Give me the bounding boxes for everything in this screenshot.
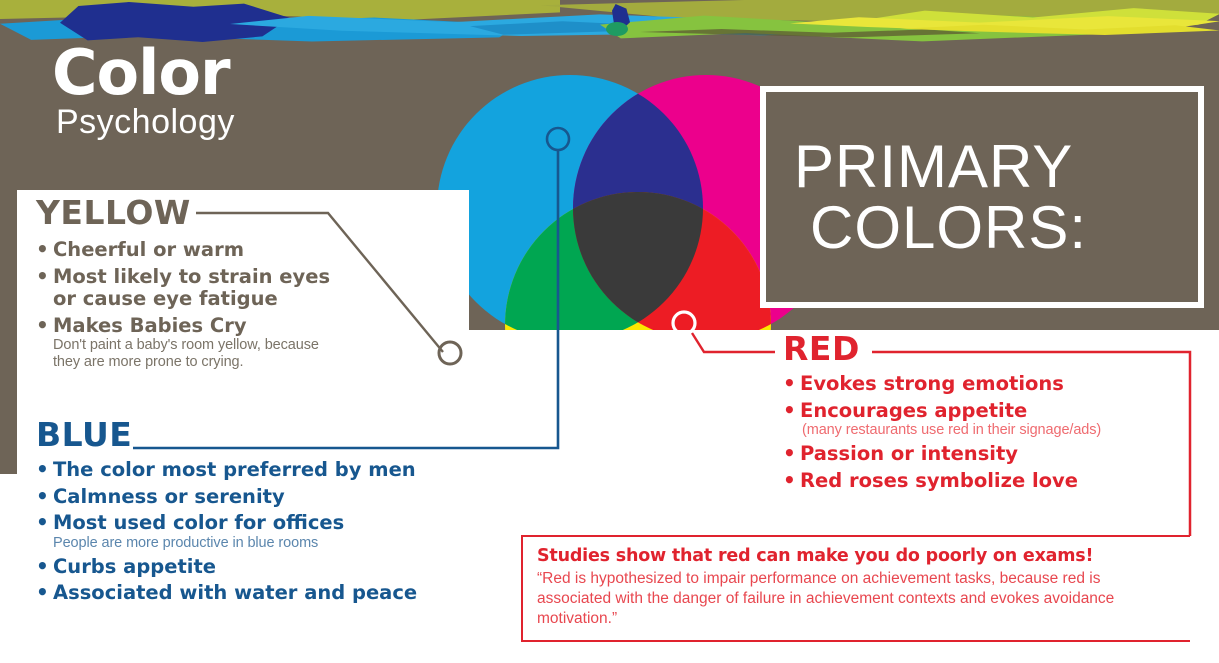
list-item: Curbs appetite [36,556,466,579]
bullet-subtext: (many restaurants use red in their signa… [800,422,1203,439]
bullet-text: Encourages appetite [800,399,1027,422]
section-yellow: YELLOW Cheerful or warm Most likely to s… [36,196,336,375]
list-item: Red roses symbolize love [783,470,1203,493]
bullet-subtext: People are more productive in blue rooms [53,535,466,552]
bullet-text: Passion or intensity [800,442,1018,465]
red-heading: RED [783,332,1203,365]
list-item: Most used color for offices People are m… [36,512,466,551]
list-item: Most likely to strain eyes or cause eye … [36,266,336,311]
title-main: Color [52,44,352,101]
bullet-text: Most used color for offices [53,511,344,534]
list-item: Encourages appetite (many restaurants us… [783,400,1203,439]
red-bullet-list: Evokes strong emotions Encourages appeti… [783,373,1203,492]
list-item: Cheerful or warm [36,239,336,262]
bullet-text: Associated with water and peace [53,581,417,604]
blue-heading: BLUE [36,418,466,451]
bullet-text: Red roses symbolize love [800,469,1078,492]
section-blue: BLUE The color most preferred by men Cal… [36,418,466,609]
blue-bullet-list: The color most preferred by men Calmness… [36,459,466,605]
bullet-subtext: Don't paint a baby's room yellow, becaus… [53,337,336,371]
bullet-text: Cheerful or warm [53,238,244,261]
list-item: The color most preferred by men [36,459,466,482]
bullet-text: Evokes strong emotions [800,372,1064,395]
title-sub: Psychology [56,105,352,139]
list-item: Makes Babies Cry Don't paint a baby's ro… [36,315,336,371]
infographic-poster: Color Psychology PRIMARY COLORS: YELLOW … [0,0,1219,663]
section-red: RED Evokes strong emotions Encourages ap… [783,332,1203,496]
list-item: Associated with water and peace [36,582,466,605]
list-item: Calmness or serenity [36,486,466,509]
yellow-bullet-list: Cheerful or warm Most likely to strain e… [36,239,336,371]
study-quote: “Red is hypothesized to impair performan… [537,569,1176,628]
yellow-heading: YELLOW [36,196,336,229]
bullet-text: Calmness or serenity [53,485,285,508]
primary-colors-panel: PRIMARY COLORS: [760,86,1204,308]
bullet-text: Makes Babies Cry [53,314,247,337]
list-item: Passion or intensity [783,443,1203,466]
study-headline: Studies show that red can make you do po… [537,546,1176,566]
list-item: Evokes strong emotions [783,373,1203,396]
splatter-green-dot [606,22,628,36]
primary-colors-line2: COLORS: [810,197,1198,258]
bullet-text: The color most preferred by men [53,458,416,481]
bullet-text: Most likely to strain eyes or cause eye … [53,265,330,311]
bullet-text: Curbs appetite [53,555,216,578]
primary-colors-line1: PRIMARY [794,136,1198,197]
study-callout: Studies show that red can make you do po… [521,535,1190,642]
poster-title: Color Psychology [52,44,352,139]
